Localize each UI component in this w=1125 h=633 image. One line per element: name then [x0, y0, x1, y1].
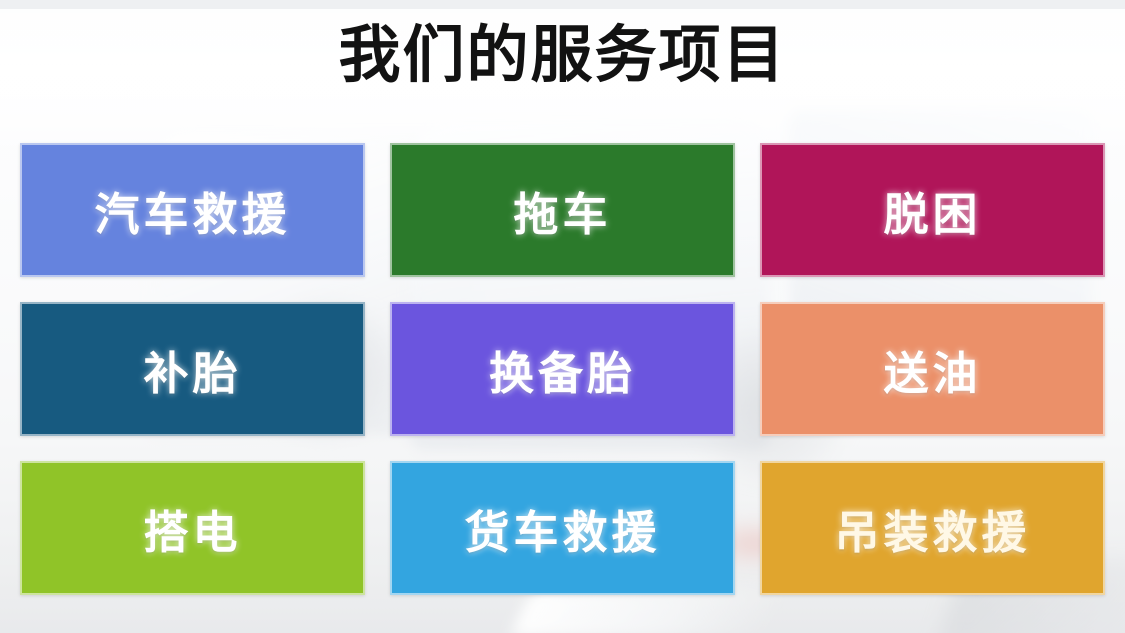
service-tile-crane-lifting-rescue[interactable]: 吊装救援 [760, 461, 1105, 595]
service-tile-jump-start[interactable]: 搭电 [20, 461, 365, 595]
service-tile-fuel-delivery[interactable]: 送油 [760, 302, 1105, 436]
service-tile-label: 送油 [883, 337, 981, 402]
service-tile-roadside-assistance[interactable]: 汽车救援 [20, 143, 365, 277]
page-title: 我们的服务项目 [338, 22, 786, 87]
service-tile-label: 换备胎 [489, 337, 636, 402]
service-poster: 我们的服务项目 汽车救援拖车脱困补胎换备胎送油搭电货车救援吊装救援 [0, 0, 1125, 633]
service-tile-truck-rescue[interactable]: 货车救援 [390, 461, 735, 595]
service-tile-spare-tire-change[interactable]: 换备胎 [390, 302, 735, 436]
service-tile-label: 脱困 [883, 178, 981, 243]
service-tile-towing[interactable]: 拖车 [390, 143, 735, 277]
service-tile-tire-repair[interactable]: 补胎 [20, 302, 365, 436]
service-tile-extrication[interactable]: 脱困 [760, 143, 1105, 277]
service-tile-label: 货车救援 [464, 496, 660, 561]
title-bar: 我们的服务项目 [0, 22, 1125, 87]
service-tile-label: 补胎 [143, 337, 241, 402]
service-tile-label: 吊装救援 [834, 496, 1030, 561]
service-tile-label: 搭电 [143, 496, 241, 561]
background-road-streak [508, 590, 781, 633]
service-tile-label: 拖车 [513, 178, 611, 243]
service-grid: 汽车救援拖车脱困补胎换备胎送油搭电货车救援吊装救援 [20, 143, 1105, 595]
top-edge-strip [0, 0, 1125, 9]
service-tile-label: 汽车救援 [94, 178, 290, 243]
